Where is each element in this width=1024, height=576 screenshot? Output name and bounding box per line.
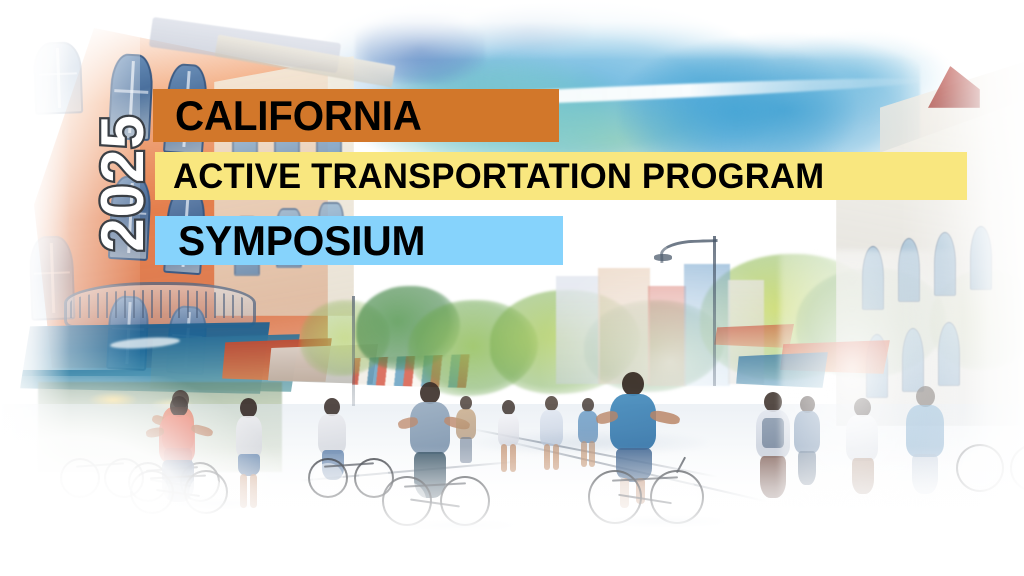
storefront-glass bbox=[38, 382, 282, 472]
legs bbox=[414, 452, 446, 498]
torso bbox=[456, 409, 476, 439]
torso bbox=[498, 414, 519, 446]
shorts bbox=[238, 454, 260, 476]
title-bar-program: ACTIVE TRANSPORTATION PROGRAM bbox=[155, 152, 967, 200]
leg bbox=[510, 444, 516, 472]
cyclist bbox=[150, 390, 204, 500]
arm bbox=[190, 423, 214, 438]
head bbox=[622, 372, 644, 396]
bicycle-frame bbox=[404, 482, 466, 487]
legs bbox=[162, 460, 194, 502]
bicycle-wheel bbox=[60, 458, 100, 498]
leg bbox=[581, 441, 587, 467]
sky-top-fade bbox=[250, 0, 990, 60]
building-cornice-2 bbox=[214, 35, 395, 88]
head bbox=[916, 386, 935, 407]
bicycle-wheel bbox=[588, 470, 642, 524]
backpack bbox=[762, 418, 784, 448]
title-line-california: CALIFORNIA bbox=[175, 95, 422, 137]
arm bbox=[151, 414, 169, 428]
title-bar-california: CALIFORNIA bbox=[153, 89, 559, 142]
leg bbox=[589, 441, 595, 467]
bicycle-wheel bbox=[308, 458, 348, 498]
bicycle-frame bbox=[612, 476, 678, 481]
distance-haze bbox=[540, 250, 800, 410]
head bbox=[502, 400, 515, 415]
bicycle bbox=[60, 448, 144, 504]
bicycle bbox=[130, 458, 230, 520]
grey-awning bbox=[268, 344, 378, 384]
sign-pole bbox=[352, 296, 355, 406]
bicycle-wheel bbox=[382, 476, 432, 526]
arm bbox=[443, 415, 471, 431]
blue-awning-2 bbox=[150, 334, 300, 392]
street-tree bbox=[356, 286, 460, 370]
head bbox=[545, 396, 558, 411]
legs bbox=[798, 451, 816, 485]
street-lamp-arm bbox=[660, 239, 719, 263]
distant-building bbox=[648, 286, 686, 386]
leg bbox=[636, 478, 645, 504]
window-icon bbox=[166, 305, 209, 375]
street-tree bbox=[408, 300, 538, 396]
bicycle-frame bbox=[76, 462, 124, 467]
window-icon bbox=[29, 235, 76, 320]
distant-building bbox=[598, 268, 650, 384]
bottom-left-fade bbox=[0, 376, 280, 576]
street-tree bbox=[930, 270, 1024, 370]
leg bbox=[620, 478, 629, 508]
legs bbox=[164, 448, 192, 482]
right-awning-blue bbox=[736, 352, 828, 388]
right-white-ghost bbox=[780, 250, 960, 550]
bicycle-fork bbox=[676, 457, 686, 474]
year-label: 2025 bbox=[93, 78, 153, 288]
title-line-symposium: SYMPOSIUM bbox=[178, 220, 425, 262]
arched-window-icon bbox=[898, 238, 920, 302]
street-tree bbox=[584, 300, 724, 392]
striped-awning bbox=[352, 354, 472, 388]
street-lamp-pole bbox=[713, 236, 716, 386]
bottom-edge-fade bbox=[0, 446, 1024, 576]
sky-wash-blue bbox=[300, 0, 920, 170]
window-icon bbox=[33, 41, 83, 115]
ground-shadow bbox=[600, 518, 730, 526]
distant-building bbox=[556, 276, 600, 384]
legs bbox=[852, 458, 874, 494]
torso bbox=[756, 410, 790, 458]
title-bar-symposium: SYMPOSIUM bbox=[155, 216, 563, 265]
title-line-program: ACTIVE TRANSPORTATION PROGRAM bbox=[173, 159, 824, 194]
shop-window-glow bbox=[88, 392, 138, 408]
bicycle bbox=[382, 462, 492, 532]
torso bbox=[578, 411, 598, 443]
bicycle bbox=[588, 452, 704, 528]
awning-highlight bbox=[110, 336, 181, 351]
blue-awning bbox=[20, 322, 270, 394]
bicycle-frame bbox=[156, 489, 200, 497]
street-lamp-head bbox=[654, 254, 672, 261]
distant-building bbox=[728, 280, 764, 384]
bicycle-frame bbox=[150, 475, 206, 480]
crowd-haze bbox=[470, 430, 710, 456]
cyclist bbox=[152, 392, 212, 510]
torso bbox=[410, 402, 450, 454]
head bbox=[460, 396, 472, 410]
legs bbox=[912, 454, 938, 494]
legs bbox=[322, 450, 344, 480]
sky-blot-right bbox=[470, 4, 590, 52]
head bbox=[764, 392, 782, 412]
legs bbox=[760, 456, 786, 498]
leg bbox=[240, 474, 247, 508]
torso bbox=[540, 410, 563, 446]
bicycle-wheel bbox=[354, 458, 394, 498]
sky-blot-left bbox=[355, 14, 485, 84]
bicycle-wheel bbox=[180, 462, 220, 502]
bicycle-wheel bbox=[130, 470, 174, 514]
arched-window-icon bbox=[902, 328, 924, 392]
right-edge-fade bbox=[900, 0, 1024, 576]
arched-window-icon bbox=[970, 226, 992, 290]
tram-rail bbox=[472, 428, 718, 477]
torso bbox=[236, 416, 262, 458]
ground-shadow bbox=[400, 522, 520, 530]
head bbox=[800, 396, 815, 413]
arm bbox=[649, 409, 681, 426]
head bbox=[240, 398, 257, 418]
head bbox=[854, 398, 871, 417]
arm bbox=[397, 416, 419, 431]
building-cornice bbox=[149, 17, 341, 73]
leg bbox=[553, 444, 559, 470]
balcony bbox=[64, 282, 256, 328]
arm bbox=[145, 427, 164, 439]
bicycle-wheel bbox=[650, 470, 704, 524]
street-tree bbox=[490, 290, 640, 394]
bicycle-wheel bbox=[956, 444, 1004, 492]
torso bbox=[318, 414, 346, 454]
arched-window-icon bbox=[934, 232, 956, 296]
bicycle-wheel bbox=[104, 458, 144, 498]
bicycle-wheel bbox=[184, 470, 228, 514]
cream-building-right bbox=[836, 96, 1024, 426]
poster-canvas: 2025 CALIFORNIA ACTIVE TRANSPORTATION PR… bbox=[0, 0, 1024, 576]
street-tree bbox=[300, 300, 390, 376]
head bbox=[420, 382, 440, 404]
left-edge-fade bbox=[0, 0, 70, 576]
arm bbox=[595, 410, 619, 426]
shop-window-glow-2 bbox=[150, 398, 194, 412]
bicycle bbox=[956, 428, 1024, 496]
torso bbox=[906, 405, 944, 457]
tram-rail bbox=[503, 440, 766, 502]
balcony-railing bbox=[70, 290, 250, 318]
leg bbox=[544, 444, 550, 470]
bicycle-frame bbox=[410, 499, 460, 508]
bicycle-wheel bbox=[1010, 444, 1024, 492]
torso bbox=[610, 394, 656, 450]
head bbox=[172, 390, 189, 409]
torso bbox=[162, 407, 194, 451]
bicycle-wheel bbox=[440, 476, 490, 526]
head bbox=[170, 396, 188, 417]
bicycle-frame bbox=[324, 462, 374, 467]
bicycle bbox=[308, 448, 394, 504]
street-tree bbox=[700, 254, 880, 380]
arched-window-icon bbox=[862, 246, 884, 310]
distant-building bbox=[684, 264, 730, 386]
tram-rail bbox=[300, 460, 519, 481]
right-awning-red-far bbox=[714, 324, 794, 348]
ground-shadow bbox=[150, 500, 260, 508]
street-surface bbox=[0, 404, 1024, 576]
leg bbox=[250, 474, 257, 508]
leg bbox=[501, 444, 507, 472]
red-awning bbox=[222, 338, 332, 382]
torso bbox=[846, 415, 878, 461]
bicycle bbox=[128, 452, 224, 510]
legs bbox=[460, 437, 472, 463]
bicycle-wheel bbox=[128, 462, 168, 502]
street-tree bbox=[796, 268, 946, 378]
window-icon bbox=[106, 295, 150, 371]
shorts bbox=[616, 448, 652, 482]
torso bbox=[794, 411, 820, 453]
bicycle-frame bbox=[618, 494, 672, 504]
head bbox=[582, 398, 594, 412]
watercolor-illustration bbox=[0, 0, 1024, 576]
red-roof bbox=[918, 66, 980, 108]
arched-window-icon bbox=[938, 322, 960, 386]
bicycle-frame bbox=[150, 479, 192, 488]
torso bbox=[159, 415, 195, 463]
arched-window-icon bbox=[866, 334, 888, 398]
right-awning-red bbox=[780, 340, 890, 374]
bicycle-frame bbox=[146, 466, 198, 472]
head bbox=[324, 398, 340, 416]
